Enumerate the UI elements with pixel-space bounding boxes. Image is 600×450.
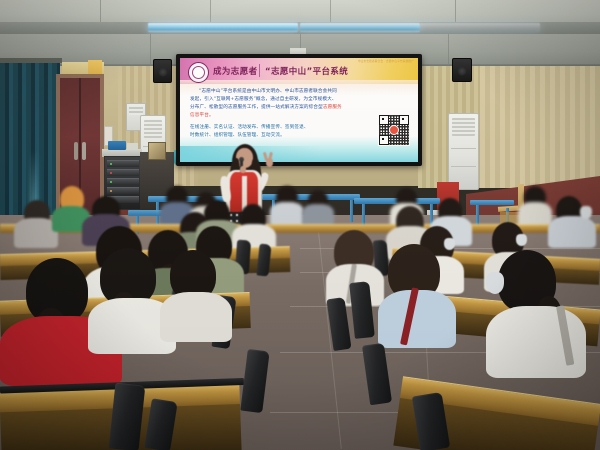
- door-handle[interactable]: [74, 142, 78, 160]
- qr-center-logo: [389, 125, 399, 135]
- rack-unit: [107, 178, 139, 185]
- air-conditioner-right: [448, 113, 479, 190]
- face-mask: [516, 234, 527, 246]
- rack-unit: [107, 187, 139, 194]
- side-wall-right: [480, 66, 600, 188]
- ac-grille: [129, 107, 143, 115]
- speaker-cone: [458, 67, 467, 76]
- ac-grille: [144, 120, 162, 138]
- rack-led: [110, 181, 112, 183]
- ceiling-seam: [100, 0, 101, 24]
- soffit-seam: [150, 34, 151, 65]
- face-mask: [444, 238, 455, 250]
- curtain-rod: [0, 58, 62, 63]
- slide-body-highlight-2: 信息平台。: [190, 113, 214, 118]
- slide-feature-line-1: 在线注册、实名认证、活动发布、传播宣传、签到签退、: [190, 125, 309, 130]
- slide-body-line-1: “志愿中山”平台系统是由中山市文明办、中山市志愿者联合会共同: [190, 88, 410, 96]
- slide-body-line-3: 分布广、松散型的志愿服务工作，提供一站式解决方案的综合型: [190, 105, 323, 110]
- blue-equipment-box: [108, 141, 126, 150]
- slide-title-main: 成为志愿者: [213, 65, 258, 77]
- door-handle[interactable]: [82, 142, 86, 160]
- slide-watermark: 中山市志愿者联合会 · 志愿中山平台系统推广: [358, 59, 414, 63]
- qr-finder-pattern: [379, 135, 389, 145]
- led-display-screen[interactable]: 中山市志愿者联合会 · 志愿中山平台系统推广 成为志愿者 “志愿中山”平台系统 …: [180, 58, 418, 162]
- fluorescent-light-strip: [300, 23, 420, 32]
- wall-speaker-right: [452, 58, 472, 82]
- ac-seam: [451, 166, 476, 167]
- slide-body-line-2: 发起，引入“互联网+志愿服务”概念，通过自主研发，为全市规模大、: [190, 97, 337, 102]
- volunteer-emblem-icon: [188, 62, 209, 83]
- table-leg: [350, 200, 353, 222]
- rack-led: [110, 172, 112, 174]
- slide-body-text: “志愿中山”平台系统是由中山市文明办、中山市志愿者联合会共同 发起，引入“互联网…: [190, 88, 410, 120]
- slide-title-divider: [259, 64, 260, 77]
- framed-picture: [148, 142, 166, 160]
- ac-seam: [451, 148, 476, 149]
- wall-speaker-left: [153, 59, 172, 83]
- qr-code[interactable]: [378, 114, 410, 146]
- qr-finder-pattern: [399, 115, 409, 125]
- ac-grille: [452, 118, 475, 136]
- qr-finder-pattern: [379, 115, 389, 125]
- rack-led: [110, 163, 112, 165]
- fluorescent-light-strip: [148, 23, 298, 32]
- slide-body-highlight-1: 志愿服务: [323, 105, 342, 110]
- white-equipment-box: [127, 143, 138, 150]
- ceiling-seam: [330, 0, 331, 24]
- ceiling-seam: [210, 0, 211, 24]
- fluorescent-light-strip: [420, 23, 540, 32]
- ceiling-panel: [0, 0, 600, 24]
- face-mask: [486, 272, 504, 294]
- rack-unit: [107, 169, 139, 176]
- ceiling-seam: [455, 0, 456, 24]
- soffit-seam: [448, 34, 449, 65]
- face-mask: [580, 206, 592, 219]
- slide-title-sub: “志愿中山”平台系统: [265, 65, 348, 77]
- rack-unit: [107, 160, 139, 167]
- rack-led: [110, 190, 112, 192]
- presenter-hand-right: [266, 158, 273, 167]
- speaker-cone: [158, 68, 167, 77]
- presenter-hand-left: [240, 166, 246, 173]
- classroom-photo-scene: 中山市志愿者联合会 · 志愿中山平台系统推广 成为志愿者 “志愿中山”平台系统 …: [0, 0, 600, 450]
